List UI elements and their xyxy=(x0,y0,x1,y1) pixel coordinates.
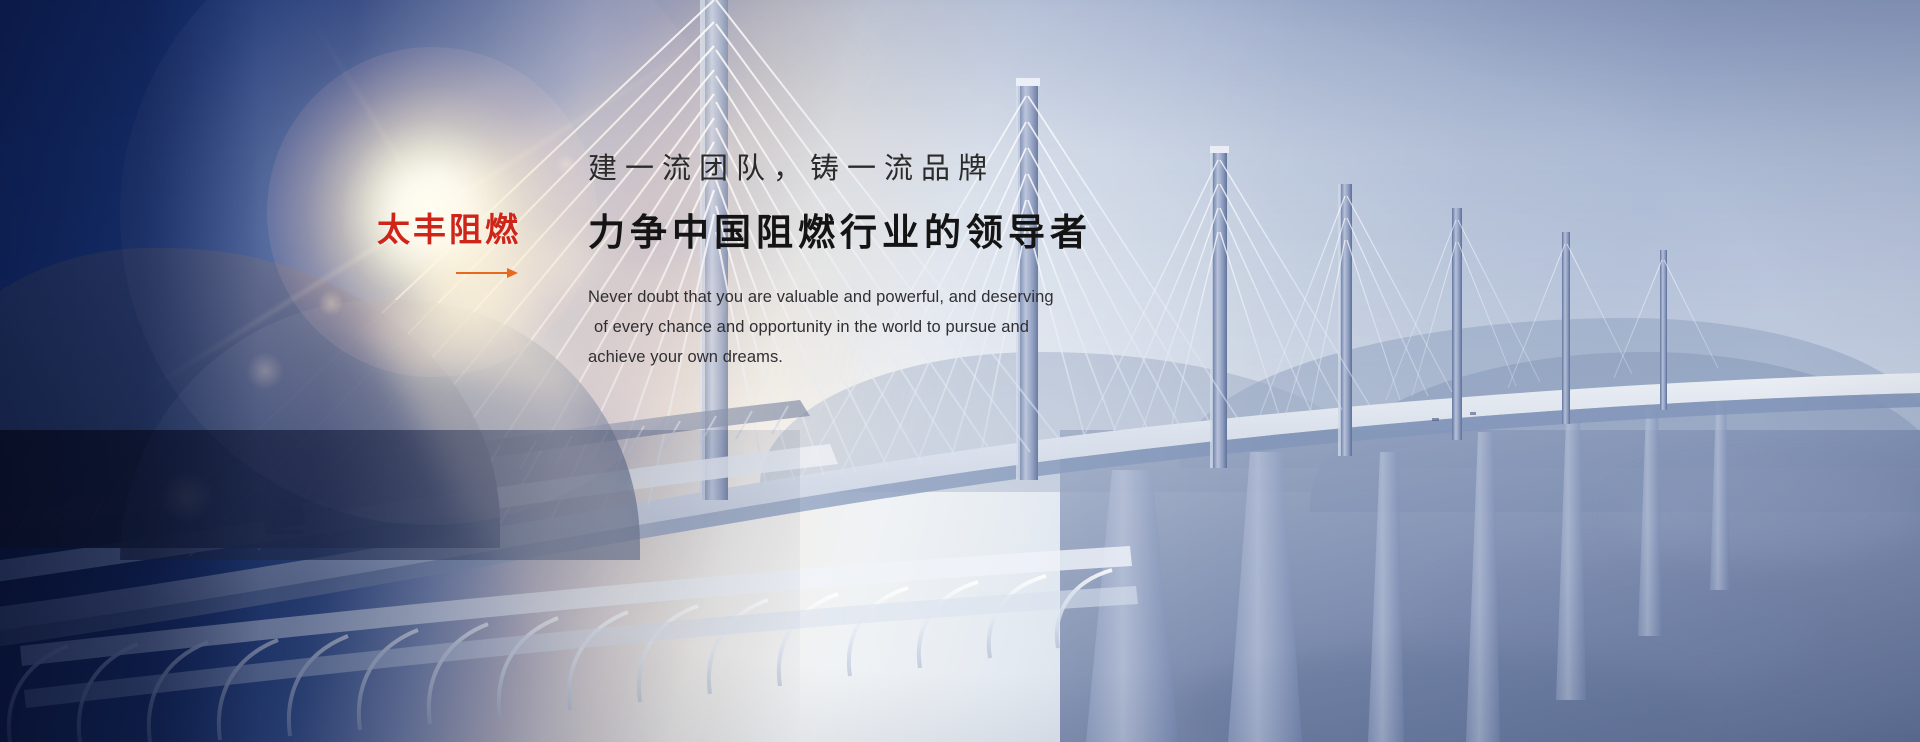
description-line-3: achieve your own dreams. xyxy=(588,342,1288,372)
logo-text: 太丰阻燃 xyxy=(377,213,527,246)
brand-logo[interactable]: 太丰阻燃 xyxy=(377,213,527,278)
banner-content: 太丰阻燃 建一流团队，铸一流品牌 力争中国阻燃行业的领导者 Never doub… xyxy=(0,0,1920,742)
headline-subtitle: 建一流团队，铸一流品牌 xyxy=(588,150,1288,188)
arrow-line xyxy=(456,272,510,274)
headline-title: 力争中国阻燃行业的领导者 xyxy=(588,210,1288,256)
headline-block: 建一流团队，铸一流品牌 力争中国阻燃行业的领导者 Never doubt tha… xyxy=(588,150,1288,372)
hero-banner: 太丰阻燃 建一流团队，铸一流品牌 力争中国阻燃行业的领导者 Never doub… xyxy=(0,0,1920,742)
description-line-2: of every chance and opportunity in the w… xyxy=(588,312,1288,342)
arrow-right-icon xyxy=(456,268,518,278)
arrow-head xyxy=(507,268,518,278)
description-line-1: Never doubt that you are valuable and po… xyxy=(588,282,1288,312)
headline-description: Never doubt that you are valuable and po… xyxy=(588,282,1288,372)
